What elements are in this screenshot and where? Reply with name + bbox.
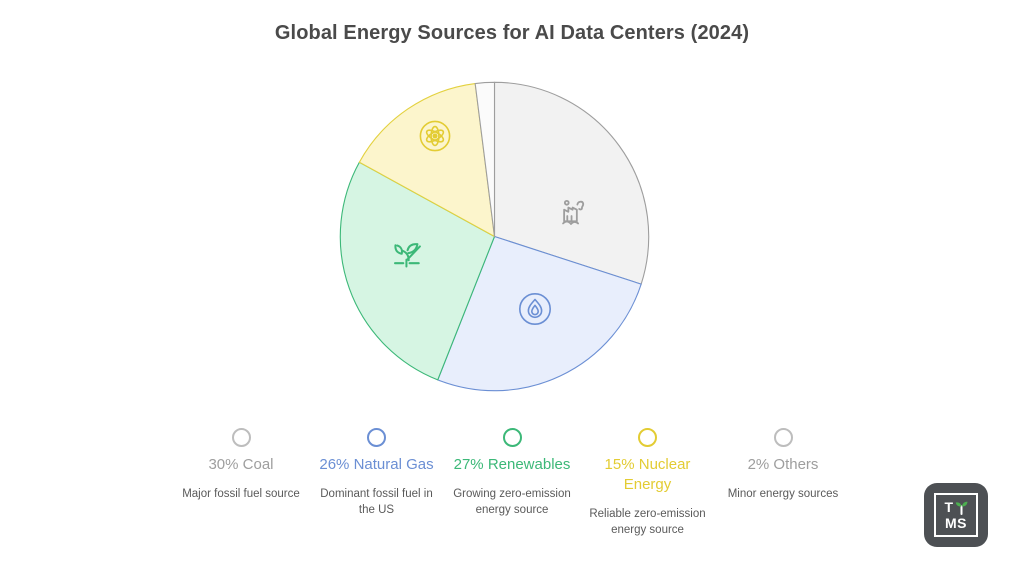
legend-description: Minor energy sources: [728, 486, 839, 502]
legend-description: Reliable zero-emission energy source: [583, 506, 713, 538]
legend-label: 27% Renewables: [454, 455, 571, 475]
page-title: Global Energy Sources for AI Data Center…: [0, 22, 1024, 45]
legend-item[interactable]: 15% Nuclear EnergyReliable zero-emission…: [583, 428, 713, 538]
legend-marker-icon: [774, 428, 793, 447]
chart-legend: 30% CoalMajor fossil fuel source26% Natu…: [176, 428, 848, 568]
legend-item[interactable]: 26% Natural GasDominant fossil fuel in t…: [312, 428, 442, 518]
legend-item[interactable]: 2% OthersMinor energy sources: [718, 428, 848, 502]
legend-marker-icon: [367, 428, 386, 447]
tms-logo: T MS: [924, 483, 988, 547]
logo-row-bottom: MS: [945, 516, 967, 531]
legend-marker-icon: [503, 428, 522, 447]
pie-slices: [340, 82, 648, 390]
logo-sprout-icon: [955, 500, 968, 515]
legend-description: Growing zero-emission energy source: [447, 486, 577, 518]
logo-frame: T MS: [934, 493, 978, 537]
legend-marker-icon: [232, 428, 251, 447]
pie-chart: [339, 81, 650, 392]
legend-item[interactable]: 30% CoalMajor fossil fuel source: [176, 428, 306, 502]
legend-description: Dominant fossil fuel in the US: [312, 486, 442, 518]
logo-row-top: T: [944, 500, 967, 515]
legend-label: 2% Others: [748, 455, 819, 475]
logo-letter-t: T: [944, 500, 953, 514]
legend-label: 30% Coal: [208, 455, 273, 475]
legend-item[interactable]: 27% RenewablesGrowing zero-emission ener…: [447, 428, 577, 518]
legend-label: 26% Natural Gas: [319, 455, 433, 475]
legend-description: Major fossil fuel source: [182, 486, 300, 502]
legend-label: 15% Nuclear Energy: [583, 455, 713, 495]
legend-marker-icon: [638, 428, 657, 447]
